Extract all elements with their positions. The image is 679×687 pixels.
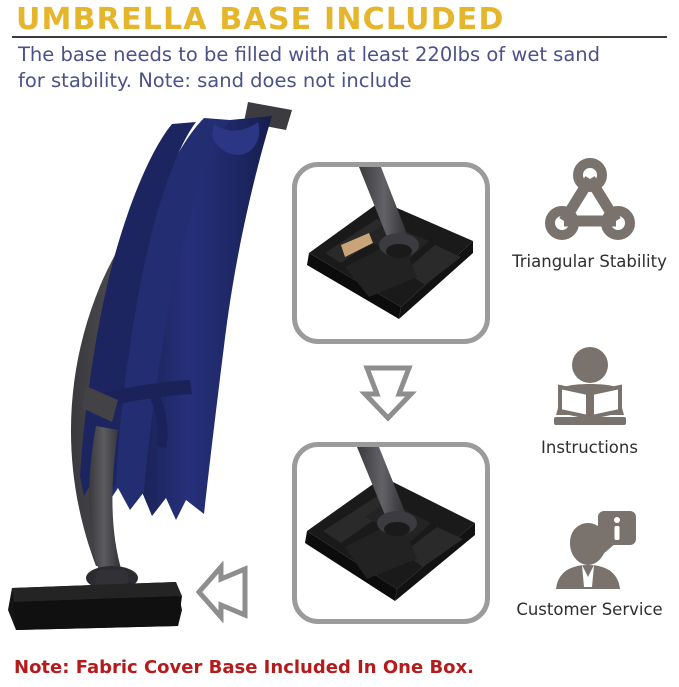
book-right-page: [592, 387, 620, 417]
feature-customer-service: Customer Service: [500, 500, 679, 619]
service-head: [570, 523, 606, 565]
person-reading-book-icon: [500, 338, 679, 434]
header-divider: [12, 36, 667, 38]
person-info-bubble-icon: [500, 500, 679, 596]
subtitle-line-2: for stability. Note: sand does not inclu…: [18, 68, 658, 94]
feature-label-triangular: Triangular Stability: [500, 252, 679, 271]
panel-base-open-top: [292, 162, 490, 344]
reader-head: [572, 347, 608, 383]
feature-instructions: Instructions: [500, 338, 679, 457]
subtitle-line-1: The base needs to be filled with at leas…: [18, 42, 658, 68]
cantilever-umbrella-illustration: [0, 96, 292, 636]
panel-bottom-image: [297, 447, 485, 619]
desk-top: [554, 417, 626, 425]
page-title: UMBRELLA BASE INCLUDED: [16, 2, 505, 37]
infographic-page: UMBRELLA BASE INCLUDED The base needs to…: [0, 0, 679, 687]
page-subtitle: The base needs to be filled with at leas…: [18, 42, 658, 94]
arrow-down-icon: [355, 364, 421, 422]
info-stem: [614, 526, 619, 540]
feature-label-service: Customer Service: [500, 600, 679, 619]
fabric-covered-base: [6, 566, 186, 636]
arrow-left-icon: [193, 561, 251, 623]
triangle-nodes-icon: [500, 152, 679, 248]
info-dot: [614, 517, 620, 523]
feature-triangular-stability: Triangular Stability: [500, 152, 679, 271]
feature-label-instructions: Instructions: [500, 438, 679, 457]
panel-top-image: [297, 167, 485, 339]
book-left-page: [560, 387, 588, 417]
panel-base-assembled: [292, 442, 490, 624]
footer-note: Note: Fabric Cover Base Included In One …: [14, 657, 474, 678]
